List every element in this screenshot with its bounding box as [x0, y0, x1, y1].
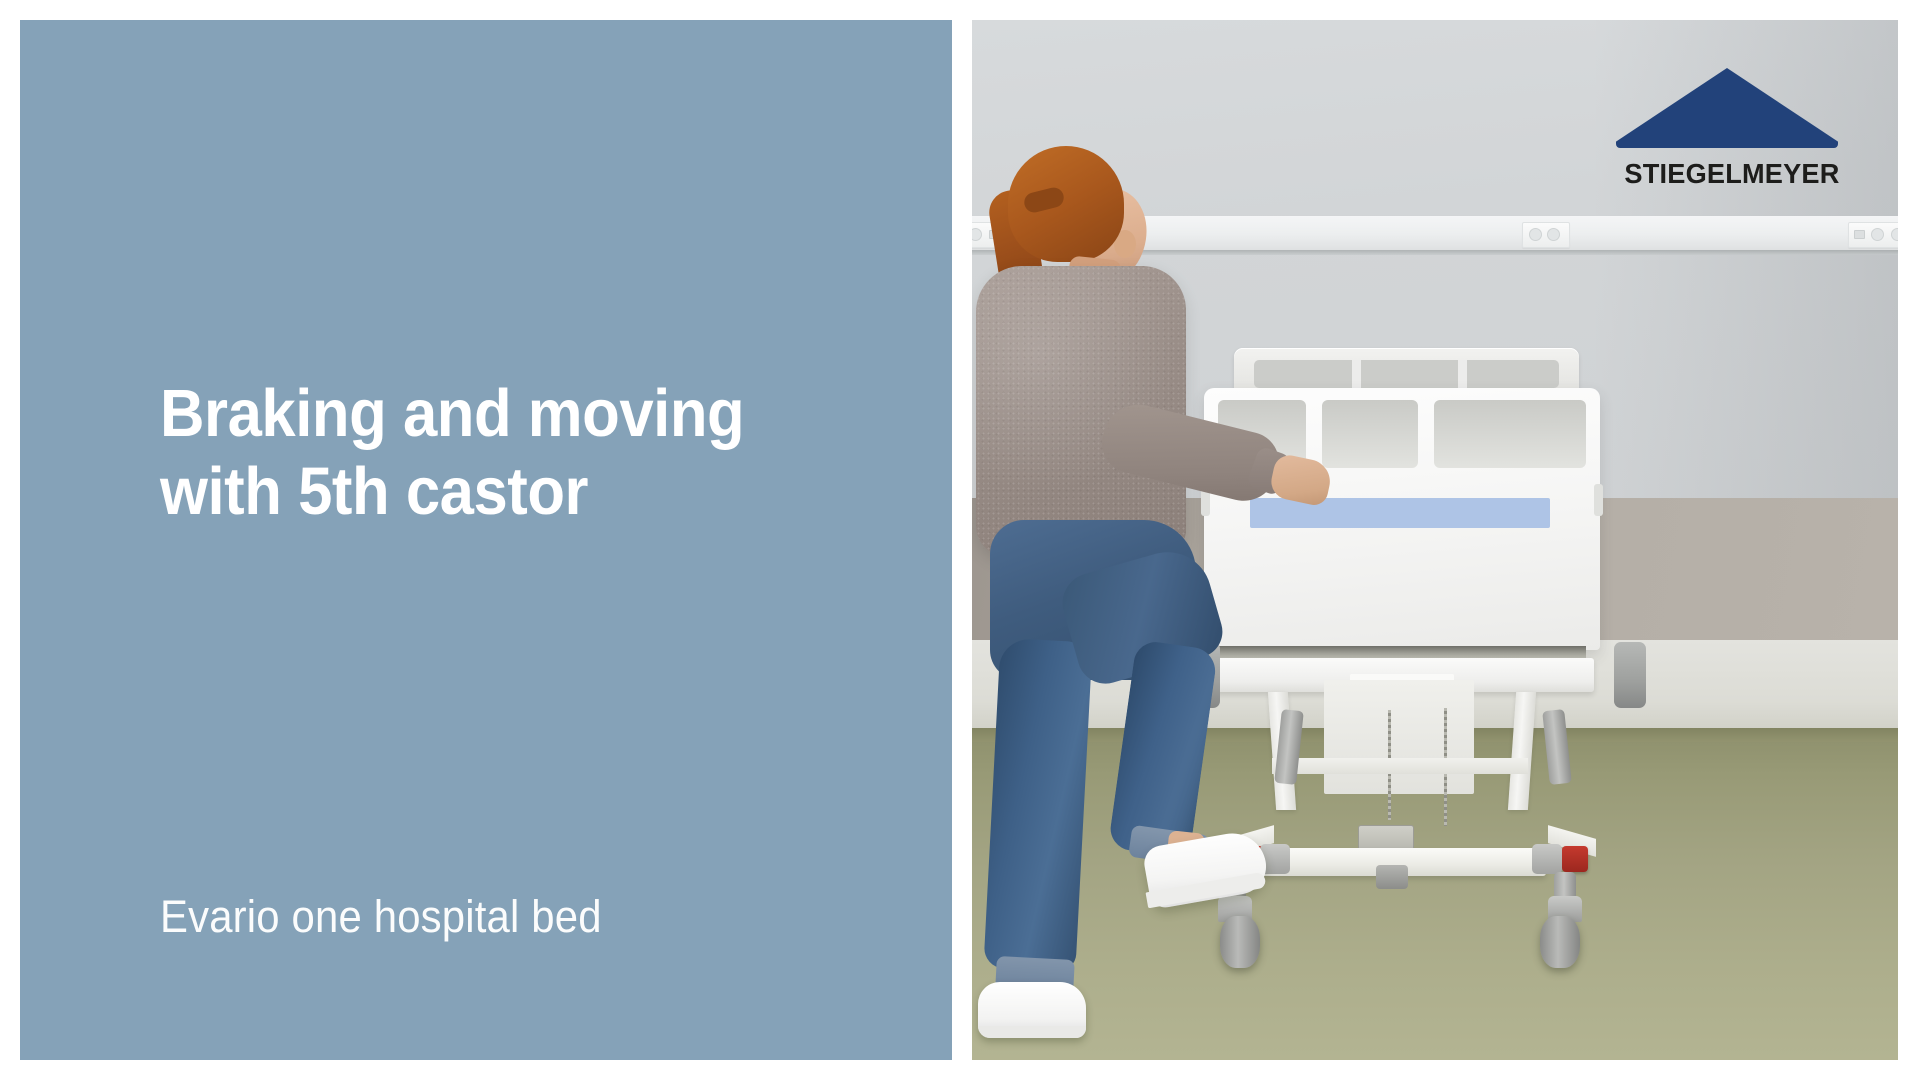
stiegelmeyer-logo: STIEGELMEYER — [1616, 62, 1848, 200]
hand-on-rail — [1268, 452, 1334, 507]
page-title: Braking and moving with 5th castor — [160, 375, 859, 530]
photo-panel: STIEGELMEYER — [972, 20, 1898, 1060]
roof-triangle-icon — [1616, 68, 1838, 148]
sneaker-left-sole — [978, 1026, 1086, 1038]
logo-wordmark: STIEGELMEYER — [1618, 158, 1847, 190]
title-panel: Braking and moving with 5th castor Evari… — [20, 20, 952, 1060]
slide-subtitle: Evario one hospital bed — [160, 892, 602, 942]
standing-leg — [983, 638, 1092, 972]
slide-canvas: Braking and moving with 5th castor Evari… — [0, 0, 1920, 1080]
title-block: Braking and moving with 5th castor — [160, 375, 920, 530]
